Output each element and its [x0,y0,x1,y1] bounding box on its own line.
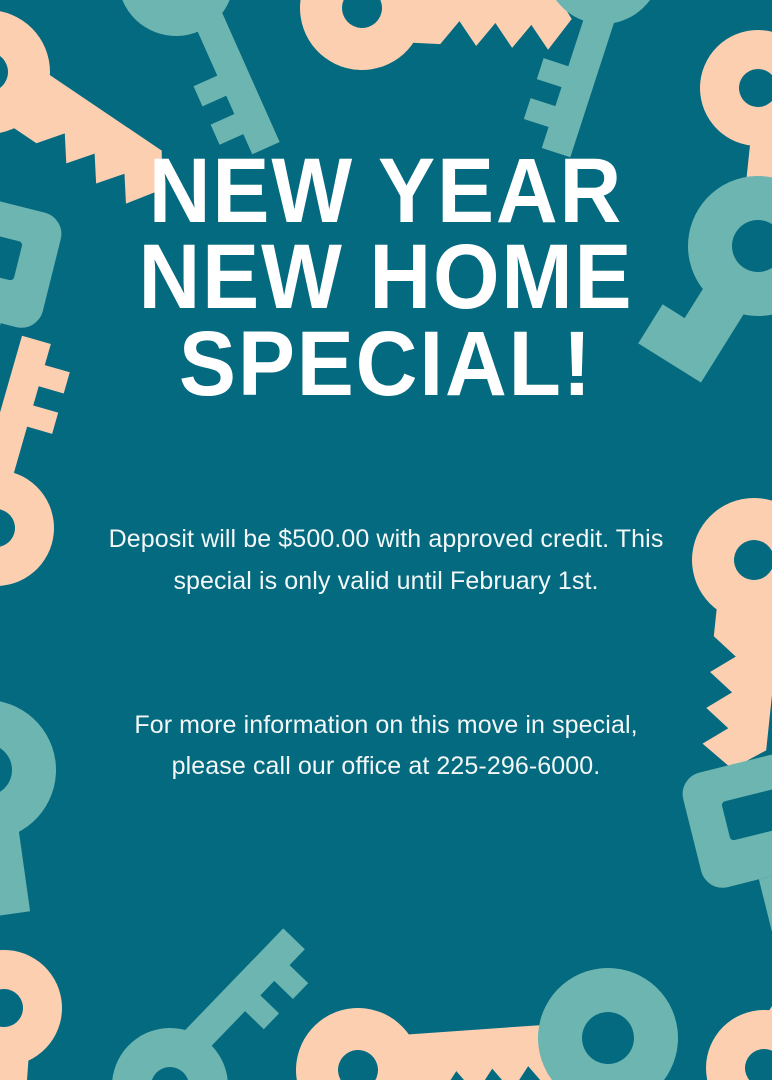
poster-content: NEW YEAR NEW HOME SPECIAL! Deposit will … [0,0,772,1080]
contact-info-paragraph: For more information on this move in spe… [106,705,666,788]
headline: NEW YEAR NEW HOME SPECIAL! [27,148,745,407]
headline-line-3: SPECIAL! [27,321,745,407]
deposit-terms-paragraph: Deposit will be $500.00 with approved cr… [106,519,666,602]
headline-line-2: NEW HOME [27,234,745,320]
poster-canvas: NEW YEAR NEW HOME SPECIAL! Deposit will … [0,0,772,1080]
headline-line-1: NEW YEAR [27,148,745,234]
